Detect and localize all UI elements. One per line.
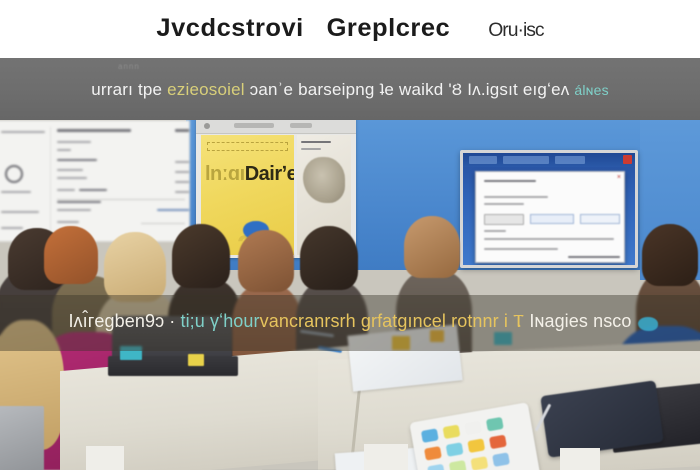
doc-line: [175, 161, 190, 163]
student-head: [172, 224, 230, 288]
app-icon[interactable]: [421, 428, 439, 443]
subtitle-segment-c: ɔanʾe barseipng ʇe waikd 'Ȣ Iʌ.igsıt eıɡ…: [245, 80, 575, 99]
dialog-button[interactable]: [484, 214, 524, 225]
doc-line: [57, 169, 83, 171]
page-title-spacer-2: [458, 14, 481, 42]
page-title-word-3: Oru·isc: [488, 20, 543, 41]
document-divider: [141, 223, 185, 224]
dialog-text-line: [484, 238, 614, 240]
dialog-text-line: [484, 196, 548, 198]
monitor-browser-toolbar: [463, 153, 635, 167]
doc-line: [1, 191, 31, 193]
doc-line: [57, 201, 101, 203]
sketch-caption-line: [301, 148, 321, 150]
student-head: [104, 232, 166, 302]
poster-headline-prefix: lnːɑı: [205, 163, 245, 185]
doc-link-line: [157, 209, 190, 211]
close-icon[interactable]: [623, 155, 632, 164]
dialog-input-field[interactable]: [530, 214, 574, 224]
poster-headline-main: Dairʼe·: [245, 163, 294, 185]
doc-line: [57, 189, 75, 191]
document-form-panel: [0, 120, 190, 242]
poster-headline: lnːɑıDairʼe·: [205, 163, 294, 186]
student-head: [642, 224, 698, 286]
app-icon[interactable]: [449, 460, 467, 470]
app-icon[interactable]: [492, 452, 510, 467]
sticky-note: [188, 354, 204, 366]
caption-segment-c: vancranrsrh ɡrfatgıncel rotnnr i Ⲧ: [260, 311, 530, 331]
dialog-text-line: [484, 230, 506, 232]
toolbar-chip: [503, 156, 549, 164]
laptop-screen-far-left: [0, 406, 44, 470]
page-title-word-2: Greplcrec: [327, 14, 451, 42]
doc-line: [1, 131, 45, 133]
app-icon[interactable]: [470, 456, 488, 470]
student-head: [404, 216, 460, 278]
student-head: [300, 226, 358, 290]
doc-heading-line: [175, 129, 190, 132]
doc-line: [57, 221, 79, 223]
subtitle-segment-d: álɴеs: [574, 82, 608, 98]
dialog-title-line: [484, 180, 536, 182]
poster-dot-icon: [204, 123, 210, 129]
caption-banner: Iʌı̂гegbеn9ɔ · ti;u γʻhourvancranrsrh ɡr…: [0, 295, 700, 351]
subtitle-segment-b: ezieosoiel: [167, 80, 245, 99]
caption-segment-d: Iɴagies nsco: [529, 311, 631, 331]
app-icon[interactable]: [486, 417, 504, 432]
app-icon[interactable]: [446, 442, 464, 457]
doc-line: [175, 171, 190, 173]
doc-line: [57, 177, 87, 179]
doc-line: [57, 209, 91, 211]
doc-line: [57, 159, 97, 161]
caption-segment-b: ti;u γʻhour: [180, 311, 259, 331]
doc-line: [57, 141, 91, 143]
page-title: Jvcdcstrovi Greplcrec Oru·isc: [0, 14, 700, 43]
app-icon[interactable]: [489, 435, 507, 450]
page-title-spacer-1: [311, 14, 319, 42]
subtitle-text: urrarı tpe ezieosoiel ɔanʾe barseipng ʇe…: [0, 80, 700, 100]
doc-line: [57, 149, 71, 151]
doc-line: [175, 181, 190, 183]
doc-line: [175, 191, 190, 193]
floor-gap: [364, 444, 408, 470]
poster-board-topbar: [196, 120, 356, 134]
doc-line: [1, 227, 23, 229]
desktop-monitor: ×: [460, 150, 638, 268]
document-main-column: [57, 125, 185, 237]
poster-placeholder-bar: [234, 123, 274, 128]
page-header: Jvcdcstrovi Greplcrec Oru·isc: [0, 0, 700, 58]
document-circle-mark: [5, 165, 23, 183]
student-head: [238, 230, 294, 292]
floor-gap: [560, 448, 600, 470]
app-icon[interactable]: [427, 464, 445, 470]
app-icon[interactable]: [424, 446, 442, 461]
modal-dialog: ×: [475, 171, 625, 263]
document-divider: [57, 199, 185, 200]
caption-text: Iʌı̂гegbеn9ɔ · ti;u γʻhourvancranrsrh ɡr…: [0, 311, 700, 332]
dialog-text-line: [484, 203, 524, 205]
subtitle-banner: annn urrarı tpe ezieosoiel ɔanʾe barseip…: [0, 58, 700, 122]
dialog-action-line[interactable]: [568, 256, 620, 258]
poster-header-box: [207, 142, 288, 151]
poster-placeholder-bar: [290, 123, 312, 128]
subtitle-ghost-label: annn: [118, 62, 140, 71]
app-icon[interactable]: [467, 438, 485, 453]
toolbar-chip: [555, 156, 585, 164]
dialog-input-field[interactable]: [580, 214, 620, 224]
sketch-illustration: [303, 157, 345, 203]
app-icon[interactable]: [464, 421, 482, 436]
document-left-column: [0, 127, 51, 237]
doc-heading-line: [57, 129, 131, 132]
page-title-word-1: Jvcdcstrovi: [156, 14, 303, 42]
app-icon[interactable]: [443, 425, 461, 440]
dialog-text-line: [484, 248, 558, 250]
floor-gap: [86, 446, 124, 470]
page-canvas: Jvcdcstrovi Greplcrec Oru·isc annn urrar…: [0, 0, 700, 470]
doc-line: [79, 189, 107, 191]
dialog-close-icon[interactable]: ×: [617, 174, 621, 181]
caption-teal-blob-icon: [638, 317, 658, 331]
toolbar-chip: [469, 156, 497, 164]
sketch-caption-line: [301, 141, 331, 143]
subtitle-segment-a: urrarı tpe: [91, 80, 167, 99]
student-head: [44, 226, 98, 284]
caption-segment-a: Iʌı̂гegbеn9ɔ ·: [68, 311, 180, 331]
classroom-photo: lnːɑıDairʼe· 2 ×: [0, 120, 700, 470]
doc-line: [1, 211, 39, 213]
